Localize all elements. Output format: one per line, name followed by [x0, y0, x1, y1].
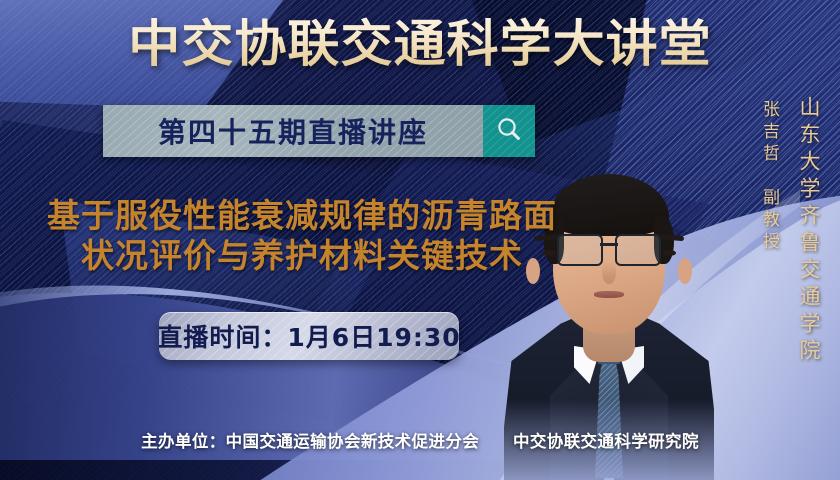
episode-search-bar[interactable]: 第四十五期直播讲座: [103, 105, 535, 157]
broadcast-time-text: 直播时间：1月6日19:30: [159, 318, 459, 354]
lecture-title-line-2: 状况评价与养护材料关键技术: [24, 236, 580, 276]
lecture-title: 基于服役性能衰减规律的沥青路面 状况评价与养护材料关键技术: [24, 196, 580, 276]
search-button[interactable]: [483, 105, 535, 157]
episode-label: 第四十五期直播讲座: [158, 111, 428, 151]
broadcast-time-badge: 直播时间：1月6日19:30: [159, 312, 459, 360]
speaker-portrait-photo: [504, 90, 714, 480]
livestream-poster: 中交协联交通科学大讲堂 第四十五期直播讲座 基于服役性能衰减规律的沥青路面 状况…: [0, 0, 840, 480]
organizer-footer: 主办单位：中国交通运输协会新技术促进分会 中交协联交通科学研究院: [0, 428, 840, 452]
main-title: 中交协联交通科学大讲堂: [0, 8, 840, 80]
lecture-title-line-1: 基于服役性能衰减规律的沥青路面: [24, 196, 580, 236]
search-icon: [495, 115, 523, 148]
speaker-affiliation: 山东大学齐鲁交通学院: [794, 96, 824, 366]
episode-label-field[interactable]: 第四十五期直播讲座: [103, 105, 483, 157]
speaker-name-title: 张吉哲 副教授: [757, 100, 782, 254]
